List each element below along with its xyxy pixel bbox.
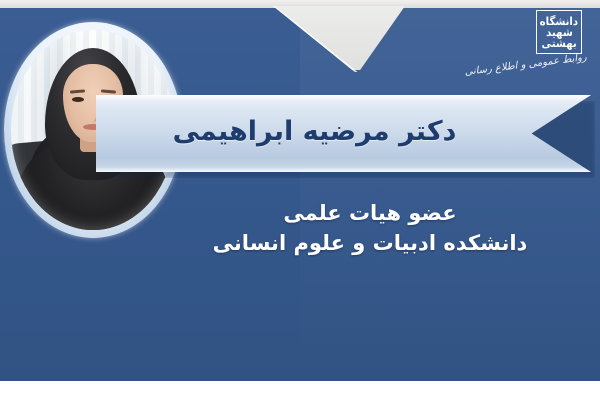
photo-eye-left (72, 97, 84, 102)
photo-eyebrow-left (70, 89, 85, 93)
person-name: دکتر مرضیه ابراهیمی (96, 95, 533, 172)
logo-line-3: بهشتی (541, 38, 576, 49)
person-role: عضو هیات علمی دانشکده ادبیات و علوم انسا… (190, 198, 550, 259)
person-role-line-1: عضو هیات علمی (190, 198, 550, 228)
university-logo: دانشگاه شهید بهشتی روابط عمومی و اطلاع ر… (484, 4, 588, 80)
name-ribbon: دکتر مرضیه ابراهیمی (96, 95, 591, 172)
public-relations-caption: روابط عمومی و اطلاع رسانی (487, 52, 588, 75)
banner-card: دکتر مرضیه ابراهیمی عضو هیات علمی دانشکد… (0, 0, 600, 400)
photo-eyebrow-right (101, 89, 116, 93)
person-role-line-2: دانشکده ادبیات و علوم انسانی (190, 228, 550, 258)
bottom-white-band (0, 381, 600, 400)
university-logo-mark: دانشگاه شهید بهشتی (536, 10, 582, 54)
university-logo-mark-text: دانشگاه شهید بهشتی (539, 13, 579, 51)
